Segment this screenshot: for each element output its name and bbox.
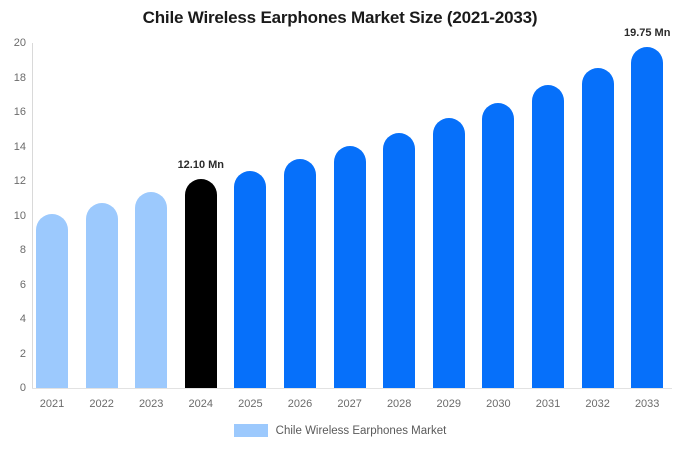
legend-label-chile-wireless-earphones-market: Chile Wireless Earphones Market bbox=[276, 425, 447, 437]
x-axis-tick-2028: 2028 bbox=[375, 398, 423, 410]
chart-container: Chile Wireless Earphones Market Size (20… bbox=[0, 0, 680, 450]
x-axis-tick-2025: 2025 bbox=[226, 398, 274, 410]
y-axis-tick-14: 14 bbox=[14, 141, 26, 153]
chart-legend: Chile Wireless Earphones Market bbox=[0, 424, 680, 437]
bar-2022[interactable] bbox=[86, 203, 118, 388]
bar-2026[interactable] bbox=[284, 159, 316, 388]
bar-2030[interactable] bbox=[482, 103, 514, 388]
x-axis-tick-2029: 2029 bbox=[425, 398, 473, 410]
y-axis-tick-2: 2 bbox=[20, 348, 26, 360]
x-axis-tick-2022: 2022 bbox=[78, 398, 126, 410]
x-axis-tick-2031: 2031 bbox=[524, 398, 572, 410]
y-axis-tick-10: 10 bbox=[14, 210, 26, 222]
bar-2023[interactable] bbox=[135, 192, 167, 388]
bar-2025[interactable] bbox=[234, 171, 266, 388]
y-axis-tick-4: 4 bbox=[20, 313, 26, 325]
x-axis-tick-2023: 2023 bbox=[127, 398, 175, 410]
y-axis-tick-12: 12 bbox=[14, 175, 26, 187]
bar-value-label-2033: 19.75 Mn bbox=[602, 27, 680, 39]
x-axis-tick-2026: 2026 bbox=[276, 398, 324, 410]
bar-value-label-2024: 12.10 Mn bbox=[156, 159, 246, 171]
bar-2029[interactable] bbox=[433, 118, 465, 388]
y-axis-tick-16: 16 bbox=[14, 106, 26, 118]
legend-swatch-chile-wireless-earphones-market bbox=[234, 424, 268, 437]
y-axis-tick-0: 0 bbox=[20, 382, 26, 394]
bar-2032[interactable] bbox=[582, 68, 614, 388]
y-axis-tick-20: 20 bbox=[14, 37, 26, 49]
x-axis-tick-2021: 2021 bbox=[28, 398, 76, 410]
bar-2027[interactable] bbox=[334, 146, 366, 388]
y-axis-tick-6: 6 bbox=[20, 279, 26, 291]
x-axis-tick-2032: 2032 bbox=[574, 398, 622, 410]
bar-2028[interactable] bbox=[383, 133, 415, 388]
bar-2031[interactable] bbox=[532, 85, 564, 388]
x-axis-tick-2024: 2024 bbox=[177, 398, 225, 410]
x-axis-tick-2033: 2033 bbox=[623, 398, 671, 410]
y-axis-tick-8: 8 bbox=[20, 244, 26, 256]
bar-2033[interactable] bbox=[631, 47, 663, 388]
bar-2021[interactable] bbox=[36, 214, 68, 388]
x-axis-tick-2027: 2027 bbox=[326, 398, 374, 410]
bar-2024[interactable] bbox=[185, 179, 217, 388]
x-axis-tick-2030: 2030 bbox=[474, 398, 522, 410]
bars-layer bbox=[32, 0, 672, 450]
y-axis-tick-18: 18 bbox=[14, 72, 26, 84]
